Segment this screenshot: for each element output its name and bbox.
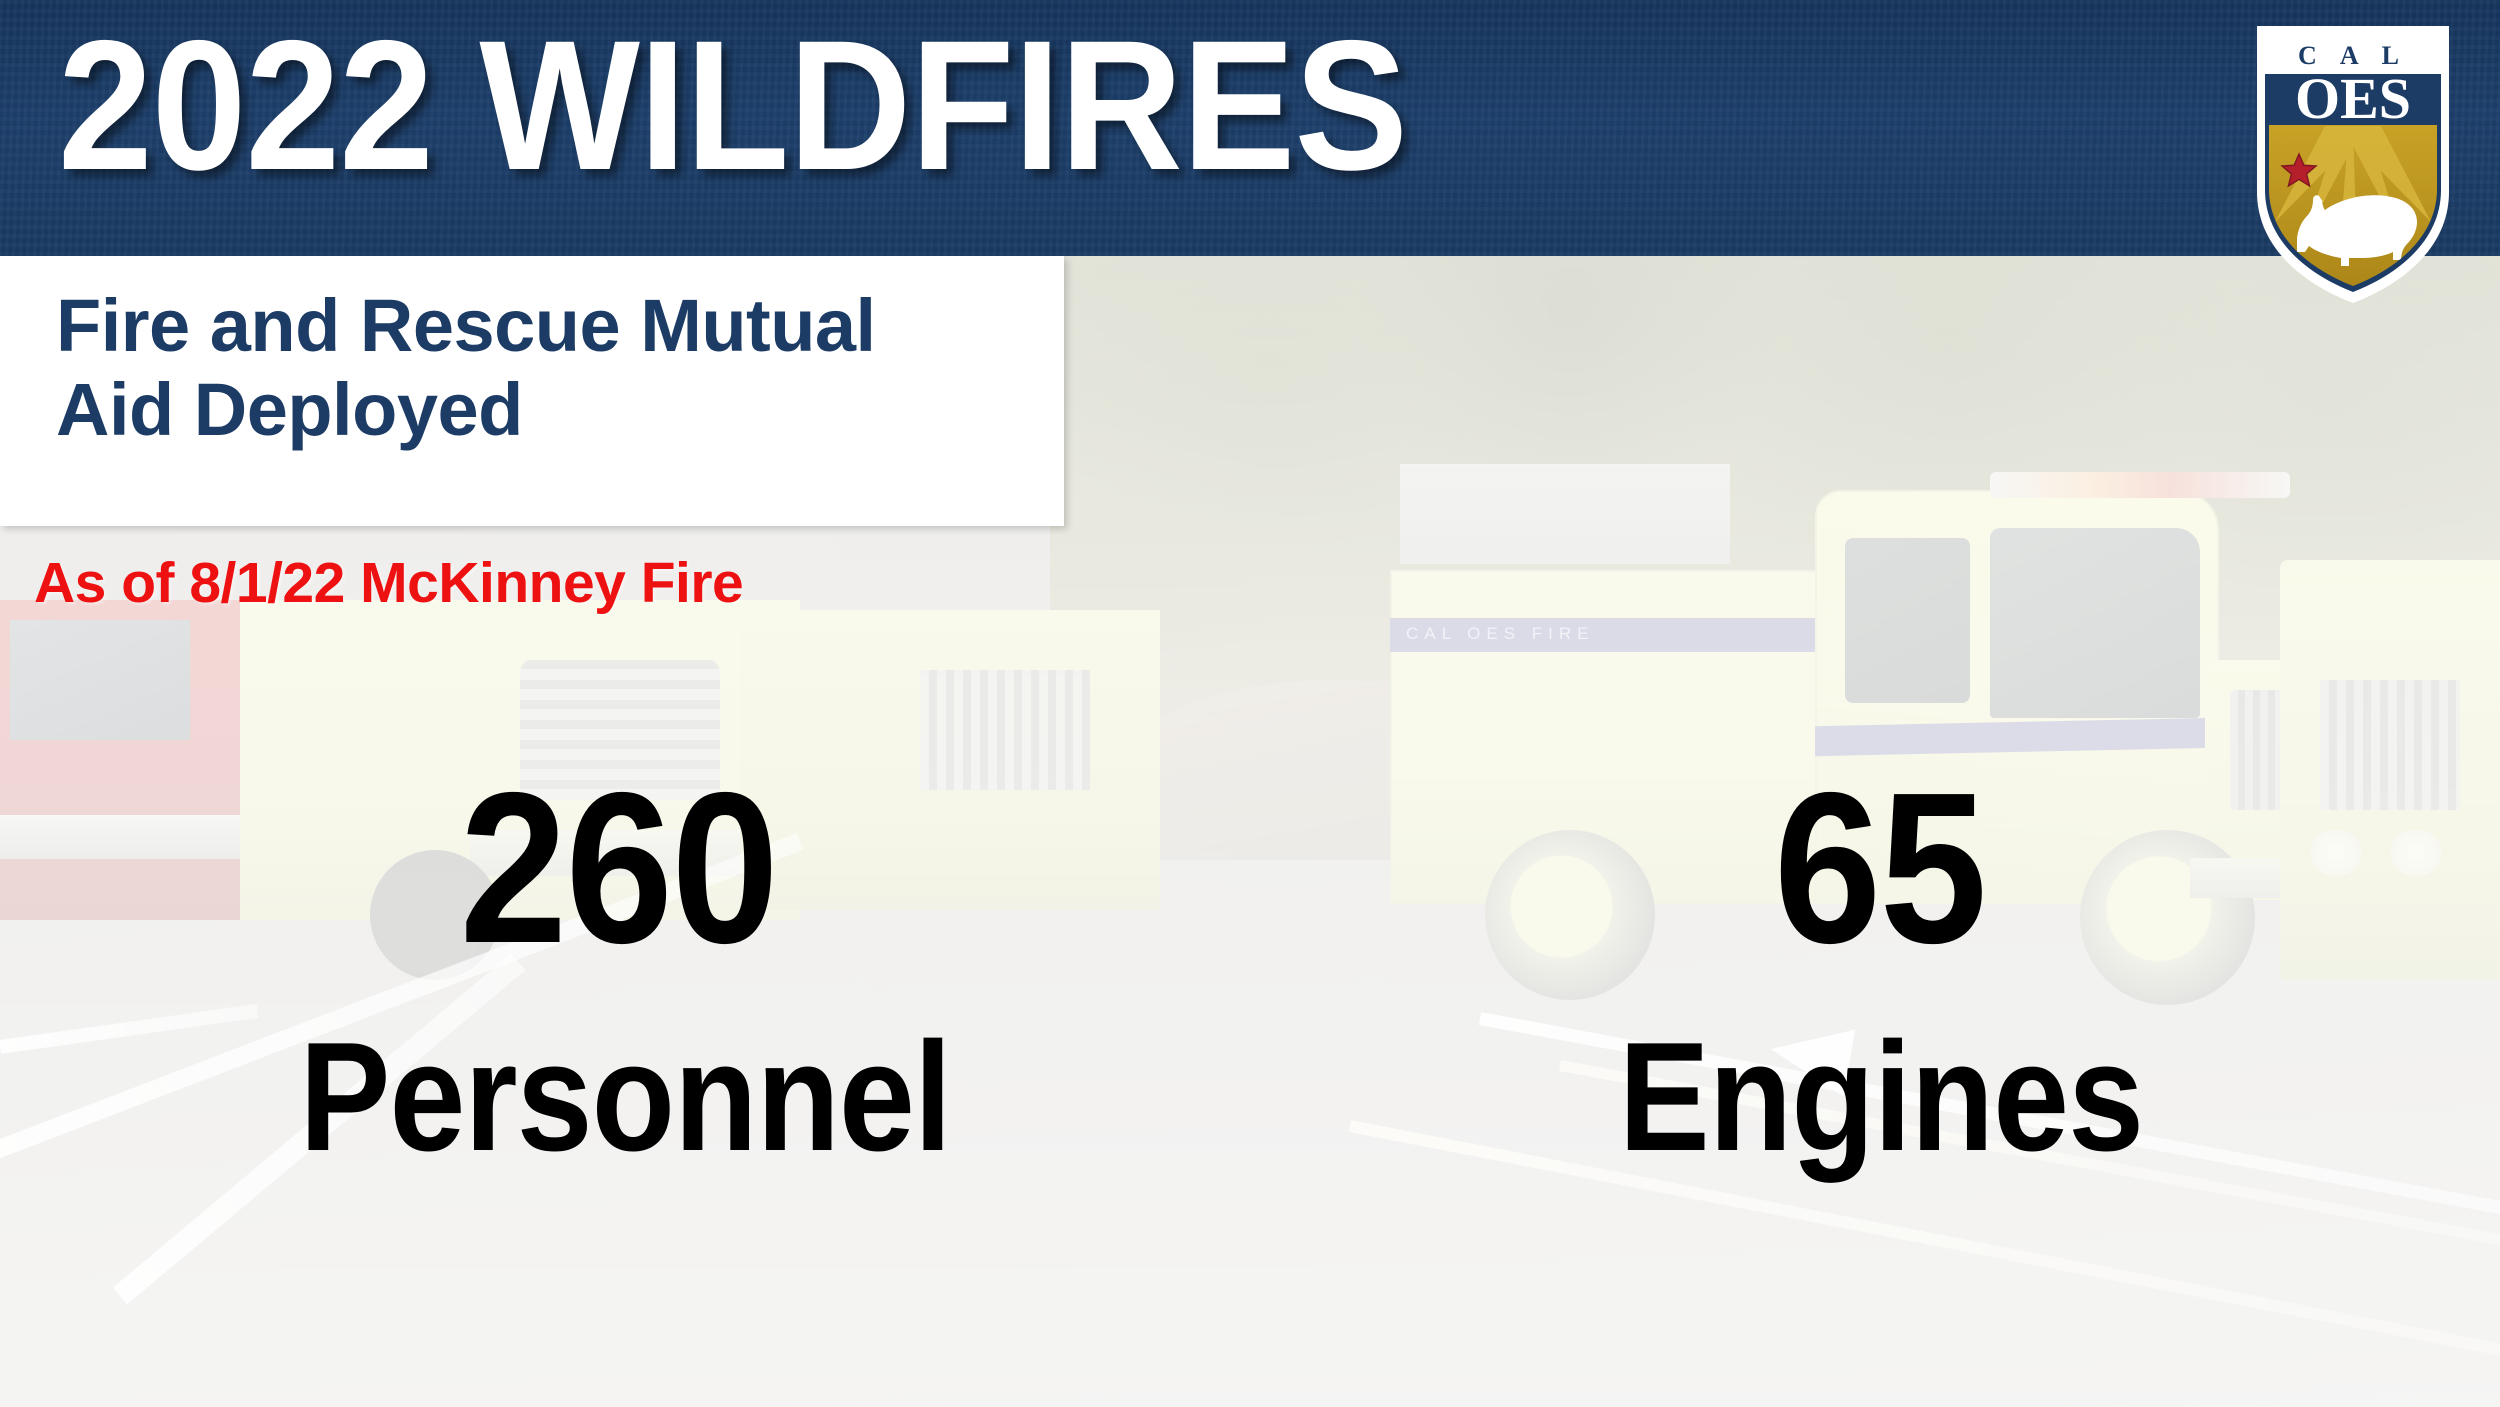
stat-engines: 65 Engines (1250, 760, 2500, 1320)
subtitle-line-1: Fire and Rescue Mutual (56, 284, 876, 367)
stat-personnel-label: Personnel (299, 1019, 951, 1174)
engine-rear-window (1845, 538, 1970, 703)
stat-personnel: 260 Personnel (0, 760, 1250, 1320)
engine-lightbar (1990, 472, 2290, 498)
page-title: 2022 WILDFIRES (58, 14, 1407, 199)
stat-engines-value: 65 (1774, 760, 1986, 975)
stat-personnel-value: 260 (459, 760, 776, 975)
header-band: 2022 WILDFIRES (0, 0, 2500, 256)
subtitle-line-2: Aid Deployed (56, 368, 523, 451)
cal-oes-logo: C A L OES C A L OES (2253, 22, 2453, 307)
subtitle-panel: Fire and Rescue Mutual Aid Deployed (0, 256, 1064, 526)
subtitle-text: Fire and Rescue Mutual Aid Deployed (56, 284, 1036, 451)
as-of-date-note: As of 8/1/22 McKinney Fire (34, 555, 743, 612)
engine-compartment (1400, 464, 1730, 564)
statistics-row: 260 Personnel 65 Engines (0, 760, 2500, 1320)
wildfire-infographic-poster: CAL OES FIRE 2022 WILDFIRES (0, 0, 2500, 1407)
logo-oes-text: OES (2295, 66, 2411, 131)
engine-stripe-text: CAL OES FIRE (1406, 624, 1736, 646)
stat-engines-label: Engines (1619, 1019, 2143, 1174)
engine-windshield (1990, 528, 2200, 718)
red-truck-windshield (10, 620, 190, 740)
